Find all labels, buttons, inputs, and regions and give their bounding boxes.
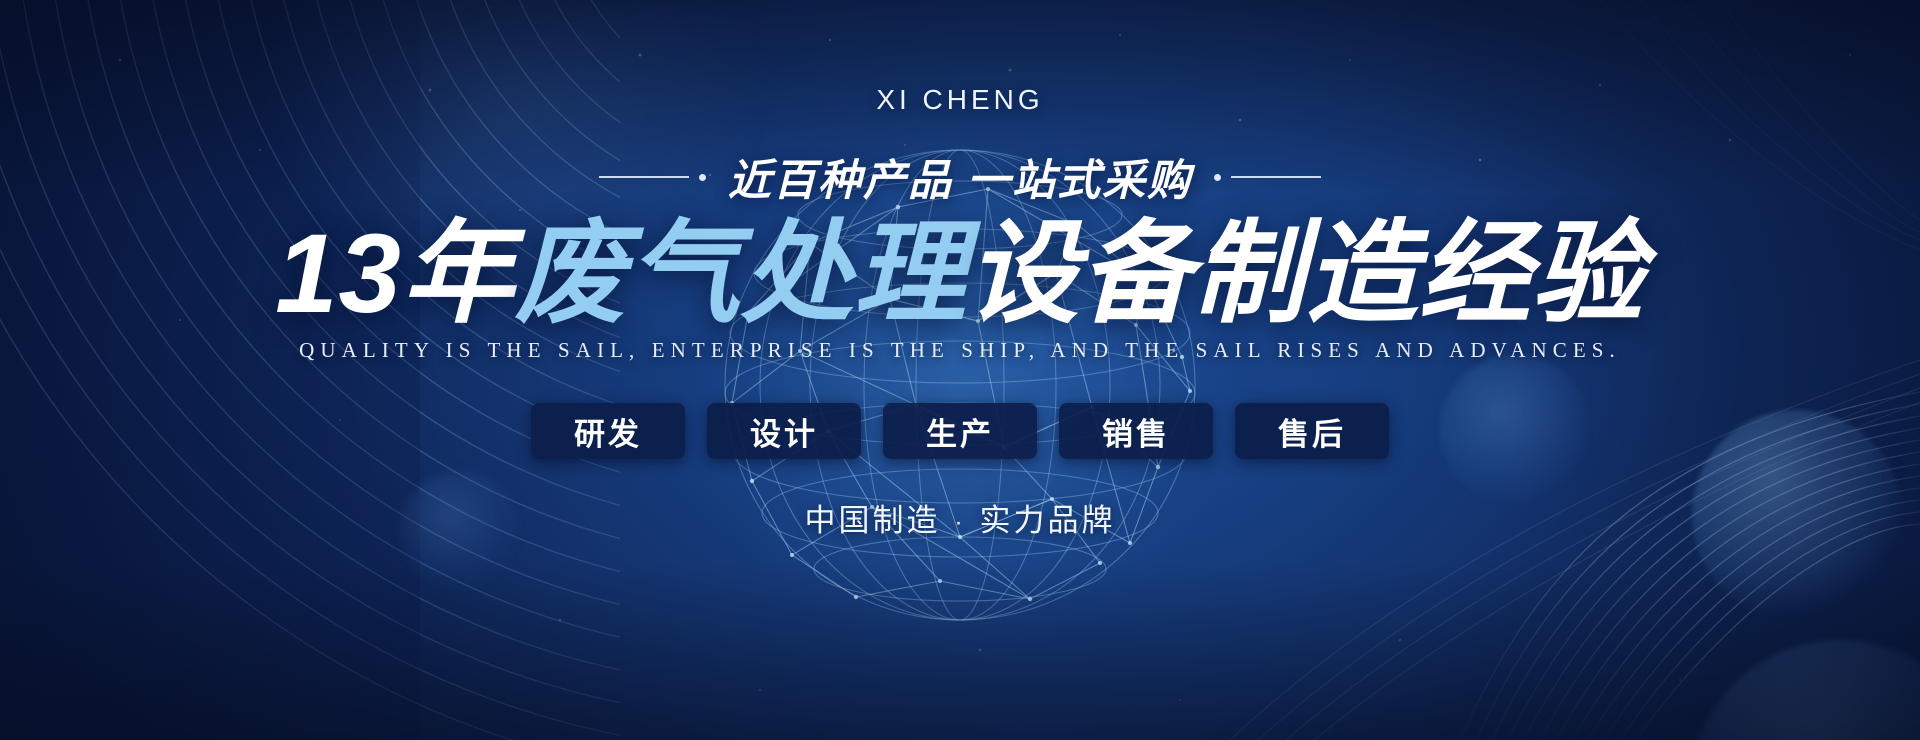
english-tagline: QUALITY IS THE SAIL, ENTERPRISE IS THE S… — [0, 338, 1920, 363]
hero-banner: XI CHENG 近百种产品 一站式采购 13年废气处理设备制造经验 QUALI… — [0, 0, 1920, 740]
service-pill-aftersales[interactable]: 售后 — [1235, 403, 1389, 459]
headline-part-tail: 设备制造经验 — [967, 211, 1645, 336]
headline-part-years: 13年 — [275, 211, 515, 336]
deco-dot-left — [699, 174, 706, 181]
brand-name-en: XI CHENG — [0, 84, 1920, 116]
service-pill-design[interactable]: 设计 — [707, 403, 861, 459]
headline-part-highlight: 废气处理 — [515, 211, 967, 336]
deco-left — [599, 174, 706, 181]
deco-right — [1214, 174, 1321, 181]
deco-line-left — [599, 176, 689, 178]
glow-right-lower — [1690, 640, 1920, 740]
headline: 13年废气处理设备制造经验 — [0, 214, 1920, 335]
service-pill-sales[interactable]: 销售 — [1059, 403, 1213, 459]
subline-row: 近百种产品 一站式采购 — [0, 146, 1920, 208]
subline-text: 近百种产品 一站式采购 — [728, 146, 1192, 208]
footer-separator-dot: · — [941, 509, 980, 536]
deco-dot-right — [1214, 174, 1221, 181]
deco-line-right — [1231, 176, 1321, 178]
footer-slogan-left: 中国制造 — [805, 503, 941, 538]
service-pill-list: 研发 设计 生产 销售 售后 — [0, 403, 1920, 459]
service-pill-production[interactable]: 生产 — [883, 403, 1037, 459]
service-pill-rd[interactable]: 研发 — [531, 403, 685, 459]
footer-slogan: 中国制造·实力品牌 — [0, 495, 1920, 540]
footer-slogan-right: 实力品牌 — [980, 503, 1116, 538]
